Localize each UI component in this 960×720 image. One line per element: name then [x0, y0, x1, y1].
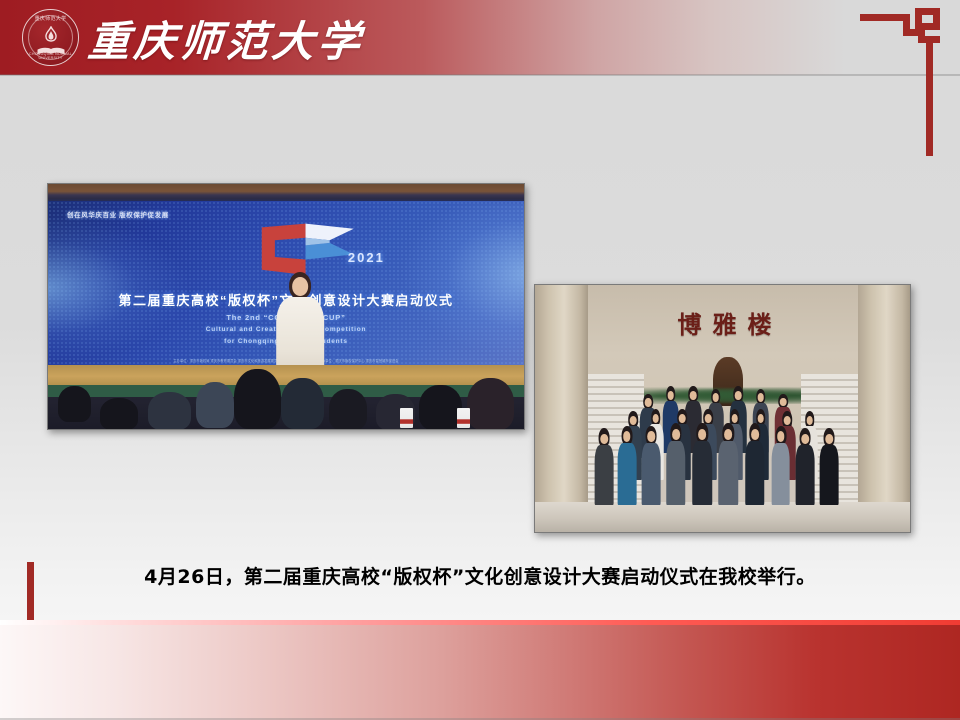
person-body — [745, 441, 764, 505]
person-face — [652, 414, 659, 423]
audience-head — [58, 386, 91, 421]
footer-gradient-band — [0, 625, 960, 720]
person-face — [725, 429, 733, 440]
slide-caption: 4月26日，第二届重庆高校“版权杯”文化创意设计大赛启动仪式在我校举行。 — [0, 562, 960, 589]
led-top-slogan: 创在风华庆百业 版权保护促发展 — [67, 209, 169, 219]
led-year-text: 2021 — [348, 250, 385, 265]
copyright-cup-logo-icon — [253, 221, 362, 280]
group-member — [719, 423, 738, 505]
group-member — [666, 423, 685, 505]
audience-head — [419, 385, 462, 430]
person-face — [801, 434, 809, 444]
lobby-floor — [535, 502, 910, 532]
university-name-text: 重庆师范大学 — [86, 8, 366, 69]
person-face — [780, 398, 787, 406]
person-face — [679, 414, 686, 423]
audience-head — [148, 392, 191, 430]
person-face — [777, 431, 785, 441]
presentation-slide: 重庆师范大学 CHONGQING NORMAL UNIVERSITY 重庆师范大… — [0, 0, 960, 720]
header-divider — [0, 74, 960, 76]
audience-rows — [48, 356, 524, 430]
person-face — [757, 393, 764, 401]
seal-top-text: 重庆师范大学 — [23, 15, 78, 22]
person-body — [595, 445, 614, 505]
person-body — [820, 445, 839, 505]
person-face — [705, 414, 712, 423]
water-bottle — [400, 408, 412, 427]
audience-head — [234, 369, 282, 429]
person-face — [751, 429, 759, 440]
person-body — [796, 445, 815, 505]
lobby-scene: 博雅楼 — [535, 285, 910, 532]
group-member — [595, 428, 614, 505]
person-face — [645, 398, 652, 406]
group-member — [796, 428, 815, 505]
person-body — [666, 441, 685, 505]
water-bottle — [457, 408, 469, 427]
person-face — [784, 416, 791, 425]
audience-head — [196, 382, 234, 428]
person-face — [735, 391, 742, 400]
person-face — [672, 429, 680, 440]
person-face — [712, 393, 719, 401]
led-glow-right — [400, 204, 524, 360]
group-member — [771, 426, 790, 505]
photo-group-boya-building[interactable]: 博雅楼 — [534, 284, 911, 533]
group-member — [642, 426, 661, 505]
person-body — [692, 441, 711, 505]
person-face — [630, 416, 637, 425]
audience-head — [329, 389, 367, 430]
chinese-corner-ornament-icon-top-right — [860, 8, 940, 156]
person-body — [642, 443, 661, 505]
person-body — [771, 443, 790, 505]
person-face — [731, 414, 738, 423]
audience-head — [281, 378, 324, 429]
slide-footer — [0, 620, 960, 720]
group-member — [693, 423, 712, 505]
stone-pillar-right — [858, 285, 911, 512]
open-book-icon — [36, 43, 66, 52]
stone-pillar-left — [535, 285, 588, 512]
person-face — [623, 431, 631, 441]
group-member — [618, 426, 637, 505]
group-member — [745, 423, 764, 505]
group-member — [820, 428, 839, 505]
photo-launch-ceremony-stage[interactable]: 创在风华庆百业 版权保护促发展 2021 第二届重庆高校“版权杯”文化创意设计大… — [47, 183, 525, 430]
audience-head — [100, 398, 138, 430]
stage-scene: 创在风华庆百业 版权保护促发展 2021 第二届重庆高校“版权杯”文化创意设计大… — [48, 184, 524, 429]
person-body — [618, 443, 637, 505]
audience-head — [467, 378, 515, 430]
speaker-face — [292, 277, 308, 296]
person-face — [806, 416, 813, 425]
person-face — [826, 434, 834, 444]
university-seal-icon: 重庆师范大学 CHONGQING NORMAL UNIVERSITY — [22, 9, 79, 66]
person-face — [698, 429, 706, 440]
seal-arc-text: CHONGQING NORMAL UNIVERSITY — [23, 52, 78, 60]
wall-calligraphy-text: 博雅楼 — [648, 305, 813, 340]
university-wordmark: 重庆师范大学 — [88, 8, 364, 68]
person-face — [757, 414, 764, 423]
person-face — [690, 391, 697, 400]
person-body — [719, 441, 738, 505]
person-face — [601, 434, 609, 444]
slide-header: 重庆师范大学 CHONGQING NORMAL UNIVERSITY 重庆师范大… — [0, 0, 960, 75]
person-face — [648, 431, 656, 441]
person-face — [667, 391, 674, 400]
